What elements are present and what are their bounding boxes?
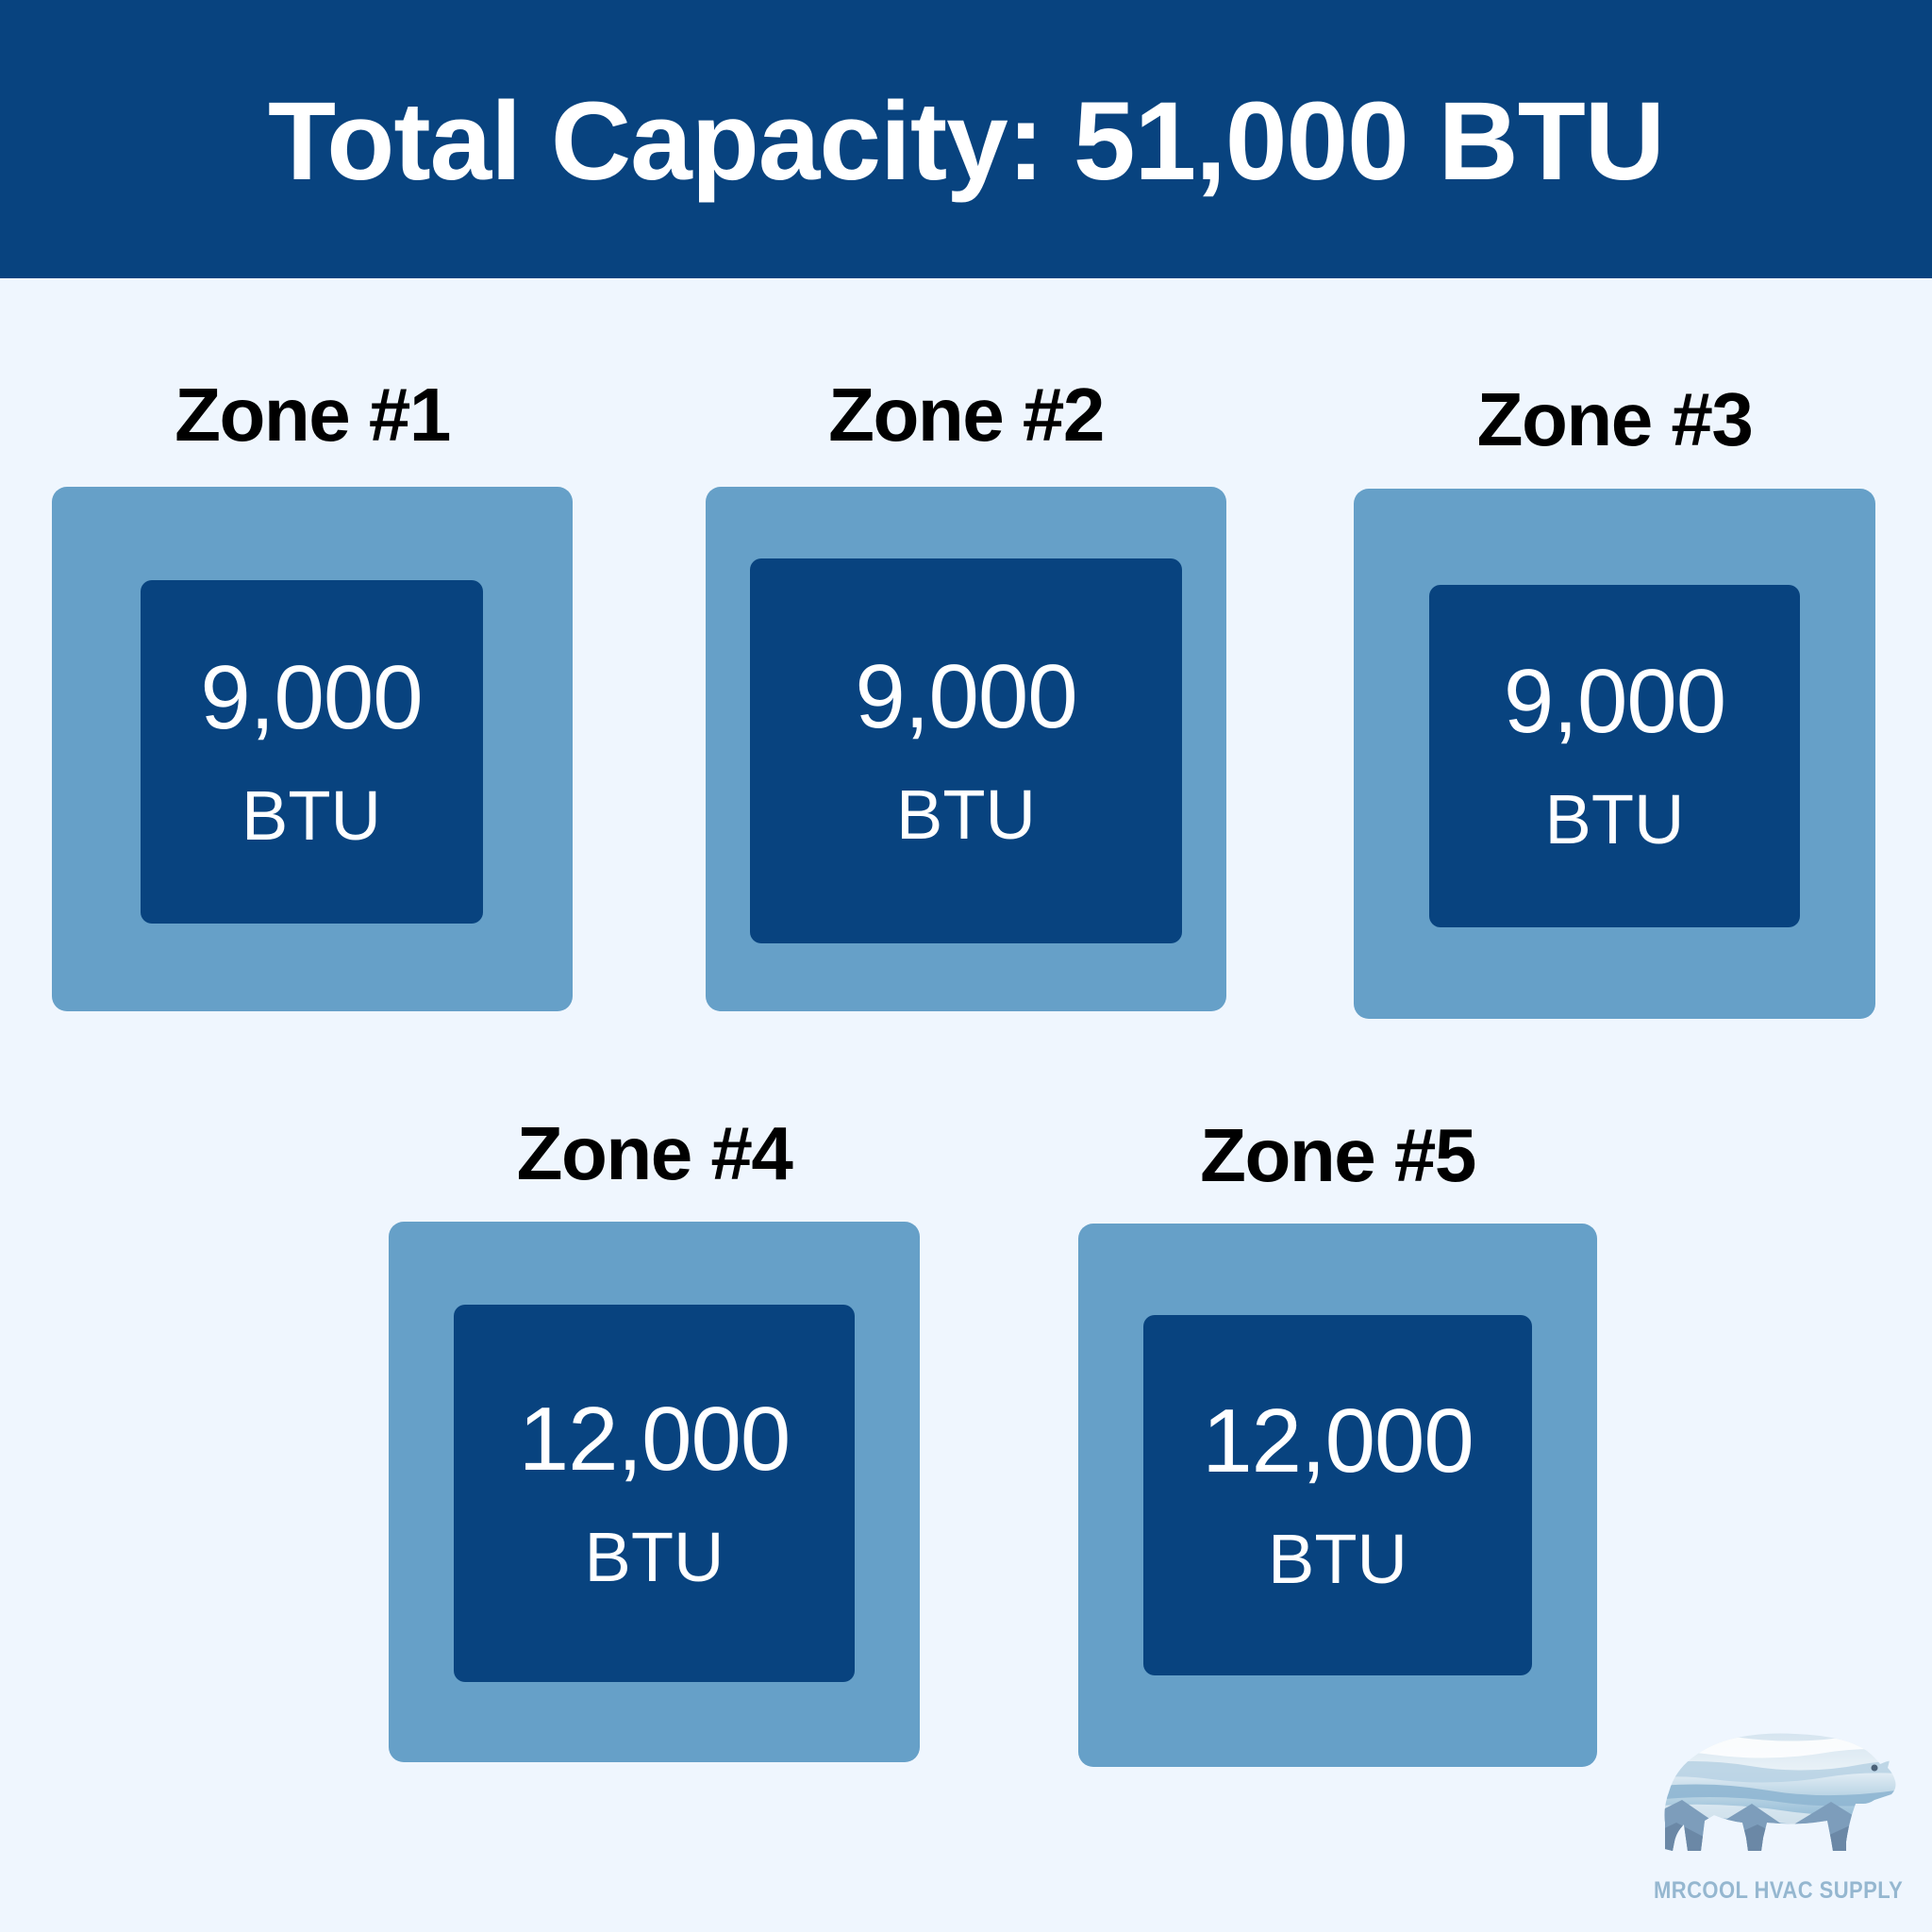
zone-capacity-box-4: 12,000 BTU	[454, 1305, 855, 1682]
zone-btu-unit-5: BTU	[1268, 1524, 1407, 1594]
zone-label-5: Zone #5	[1078, 1118, 1597, 1193]
zone-label-3: Zone #3	[1354, 382, 1875, 458]
zone-card-5: 12,000 BTU	[1078, 1224, 1597, 1767]
zone-capacity-box-5: 12,000 BTU	[1143, 1315, 1532, 1675]
brand-logo: MRCOOL HVAC SUPPLY	[1637, 1709, 1920, 1926]
zone-label-2: Zone #2	[706, 377, 1226, 453]
zone-card-4: 12,000 BTU	[389, 1222, 920, 1762]
zone-cell-5: Zone #5 12,000 BTU	[1078, 1118, 1597, 1767]
zone-btu-value-2: 9,000	[855, 652, 1076, 742]
zone-btu-unit-2: BTU	[896, 780, 1036, 850]
zone-card-1: 9,000 BTU	[52, 487, 573, 1011]
zone-cell-1: Zone #1 9,000 BTU	[52, 377, 573, 1011]
zone-label-1: Zone #1	[52, 377, 573, 453]
zone-btu-unit-3: BTU	[1545, 785, 1685, 855]
header-banner: Total Capacity: 51,000 BTU	[0, 0, 1932, 278]
zone-cell-3: Zone #3 9,000 BTU	[1354, 382, 1875, 1019]
zone-cell-2: Zone #2 9,000 BTU	[706, 377, 1226, 1011]
zone-btu-value-5: 12,000	[1202, 1396, 1474, 1487]
zone-card-2: 9,000 BTU	[706, 487, 1226, 1011]
page-title: Total Capacity: 51,000 BTU	[268, 86, 1664, 197]
zone-label-4: Zone #4	[389, 1116, 920, 1191]
zone-card-3: 9,000 BTU	[1354, 489, 1875, 1019]
zone-grid: Zone #1 9,000 BTU Zone #2 9,000 BTU Zone…	[0, 278, 1932, 1932]
polar-bear-icon	[1637, 1709, 1920, 1879]
zone-btu-unit-4: BTU	[585, 1523, 724, 1592]
brand-logo-text: MRCOOL HVAC SUPPLY	[1654, 1877, 1903, 1905]
zone-capacity-box-3: 9,000 BTU	[1429, 585, 1800, 927]
zone-btu-value-4: 12,000	[519, 1394, 791, 1485]
zone-btu-unit-1: BTU	[241, 781, 381, 851]
zone-capacity-box-1: 9,000 BTU	[141, 580, 483, 924]
zone-btu-value-1: 9,000	[200, 653, 422, 743]
zone-cell-4: Zone #4 12,000 BTU	[389, 1116, 920, 1762]
zone-capacity-box-2: 9,000 BTU	[750, 558, 1182, 943]
zone-btu-value-3: 9,000	[1504, 657, 1725, 747]
